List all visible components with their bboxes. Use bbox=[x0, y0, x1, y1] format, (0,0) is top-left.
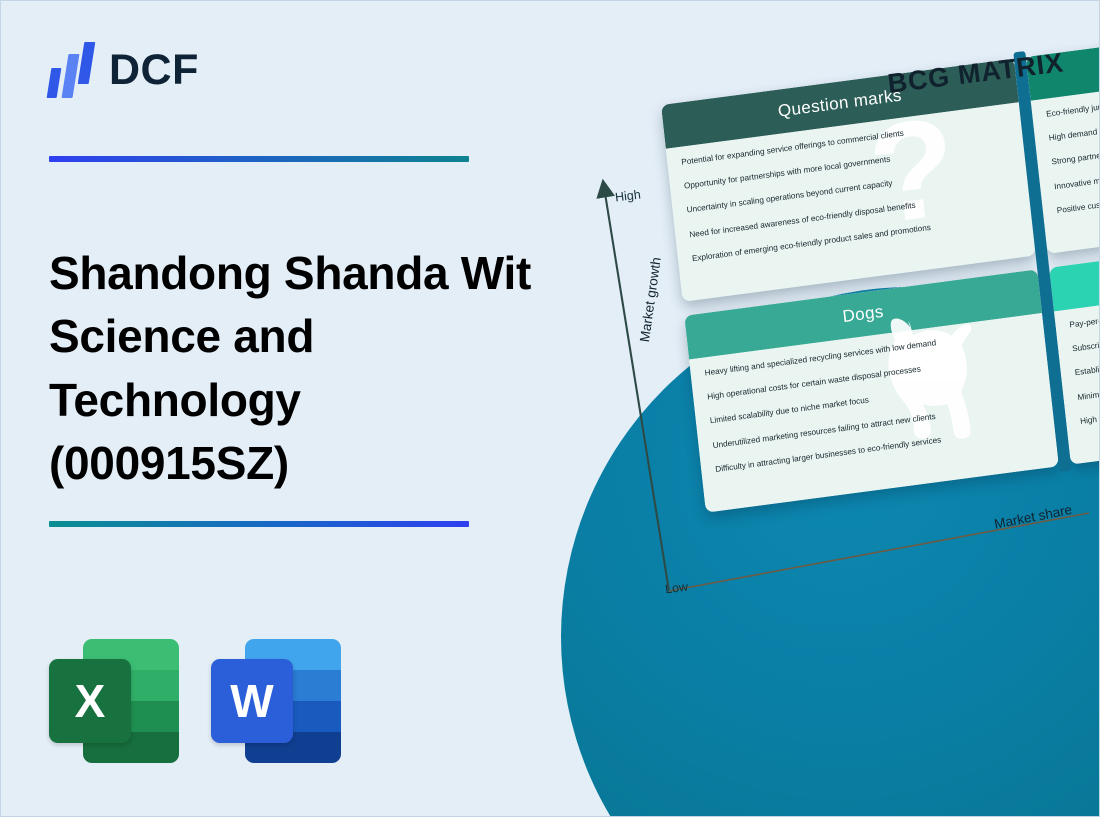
word-icon[interactable]: W bbox=[211, 639, 341, 763]
divider-top bbox=[49, 156, 469, 162]
page-title: Shandong Shanda Wit Science and Technolo… bbox=[49, 242, 549, 496]
brand-logo[interactable]: DCF bbox=[49, 42, 199, 98]
list-item: High operational costs for certain waste… bbox=[707, 351, 1033, 402]
list-item: Opportunity for partnerships with more l… bbox=[684, 140, 1010, 191]
quadrant-dogs[interactable]: Dogs Heavy lifting and specialized recyc… bbox=[684, 269, 1059, 512]
brand-name: DCF bbox=[109, 49, 199, 92]
list-item: Limited scalability due to niche market … bbox=[710, 375, 1036, 426]
list-item: Uncertainty in scaling operations beyond… bbox=[686, 164, 1012, 215]
export-format-icons: X W bbox=[49, 639, 341, 763]
list-item: Underutilized marketing resources failin… bbox=[712, 399, 1038, 450]
list-item: Difficulty in attracting larger business… bbox=[715, 423, 1041, 474]
axis-tick-low: Low bbox=[664, 580, 688, 597]
excel-letter: X bbox=[49, 659, 131, 743]
excel-icon[interactable]: X bbox=[49, 639, 179, 763]
divider-bottom bbox=[49, 521, 469, 527]
bcg-matrix-illustration: BCG MATRIX High Low Market growth Market… bbox=[541, 1, 1100, 817]
list-item: Exploration of emerging eco-friendly pro… bbox=[692, 212, 1018, 263]
dcf-bars-logo-icon bbox=[49, 42, 95, 98]
title-panel: DCF Shandong Shanda Wit Science and Tech… bbox=[1, 1, 561, 817]
slide-canvas: BCG MATRIX High Low Market growth Market… bbox=[0, 0, 1100, 817]
word-letter: W bbox=[211, 659, 293, 743]
list-item: Need for increased awareness of eco-frie… bbox=[689, 188, 1015, 239]
matrix-board: Question marks ? Potential for expanding… bbox=[661, 32, 1100, 543]
